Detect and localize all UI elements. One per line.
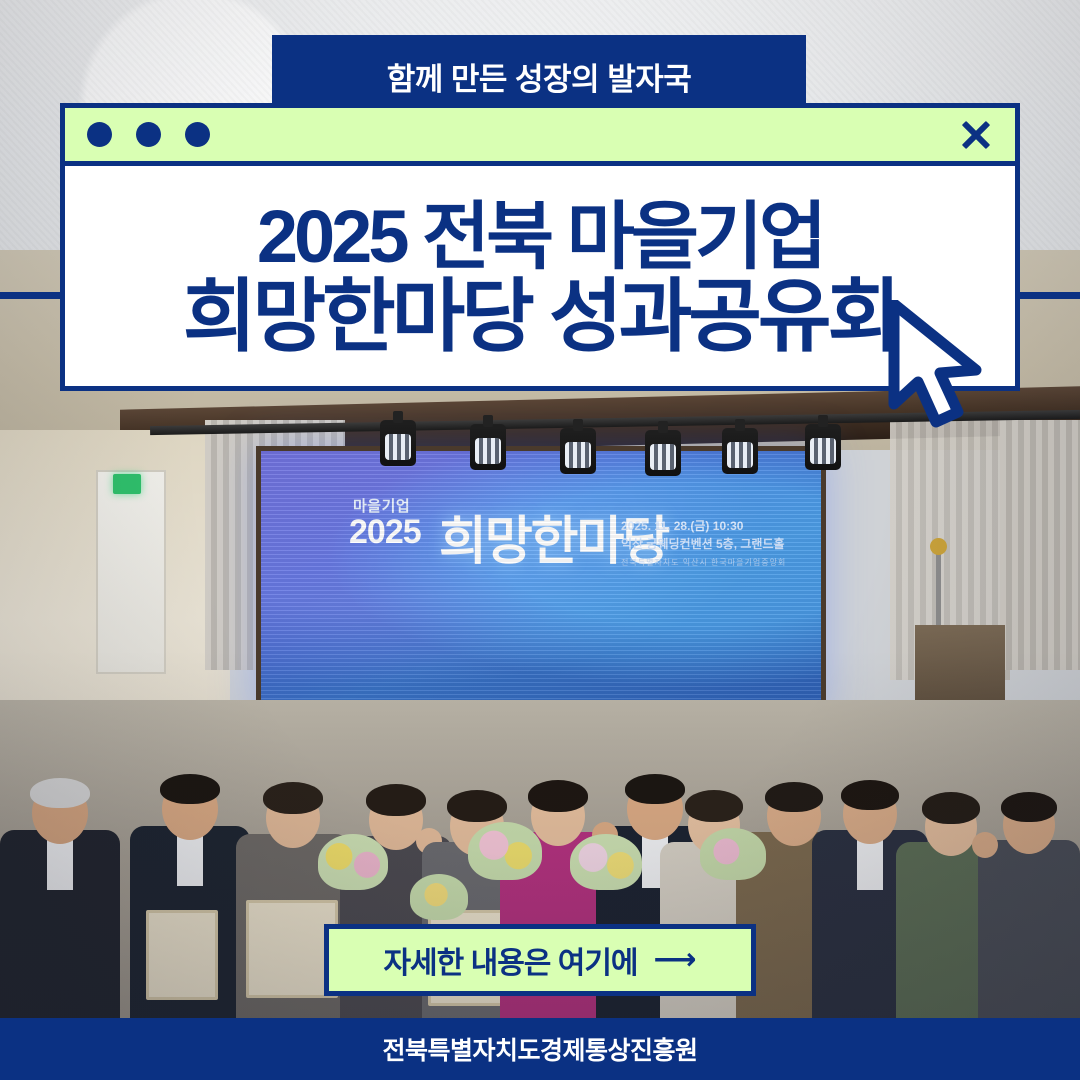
- stage-light: [380, 420, 416, 466]
- title-window: 2025 전북 마을기업 희망한마당 성과공유회: [60, 103, 1020, 391]
- window-titlebar: [65, 108, 1015, 166]
- attendee-front: [0, 740, 120, 1040]
- window-dot-icon: [87, 122, 112, 147]
- attendee-front: [130, 734, 250, 1040]
- window-dot-icon: [185, 122, 210, 147]
- exit-sign-icon: [113, 474, 141, 494]
- cta-button[interactable]: 자세한 내용은 여기에 ⟶: [324, 924, 756, 996]
- mouse-cursor-icon: [886, 300, 990, 428]
- page-title-line1: 2025 전북 마을기업: [257, 199, 823, 274]
- stage-light: [645, 430, 681, 476]
- screen-date: 2025. 11. 28.(금) 10:30: [621, 517, 743, 534]
- bouquet: [468, 822, 542, 880]
- window-dots: [87, 122, 210, 147]
- promo-card: 마을기업 2025 희망한마당 2025. 11. 28.(금) 10:30 익…: [0, 0, 1080, 1080]
- footer-bar: 전북특별자치도경제통상진흥원: [0, 1018, 1080, 1080]
- bouquet: [318, 834, 388, 890]
- stage-light: [805, 424, 841, 470]
- attendee-front: [978, 750, 1080, 1040]
- stage-light: [470, 424, 506, 470]
- window-body: 2025 전북 마을기업 희망한마당 성과공유회: [65, 166, 1015, 391]
- page-title-line2: 희망한마당 성과공유회: [183, 276, 897, 358]
- window-dot-icon: [136, 122, 161, 147]
- bouquet: [700, 828, 766, 880]
- bouquet: [570, 834, 642, 890]
- cta-label: 자세한 내용은 여기에: [383, 938, 637, 982]
- stage-light: [560, 428, 596, 474]
- arrow-right-icon: ⟶: [654, 945, 697, 975]
- close-icon[interactable]: [959, 118, 993, 152]
- stage-light: [722, 428, 758, 474]
- footer-organization: 전북특별자치도경제통상진흥원: [382, 1031, 697, 1067]
- bouquet: [410, 874, 468, 920]
- screen-subtitle: 마을기업: [353, 495, 410, 516]
